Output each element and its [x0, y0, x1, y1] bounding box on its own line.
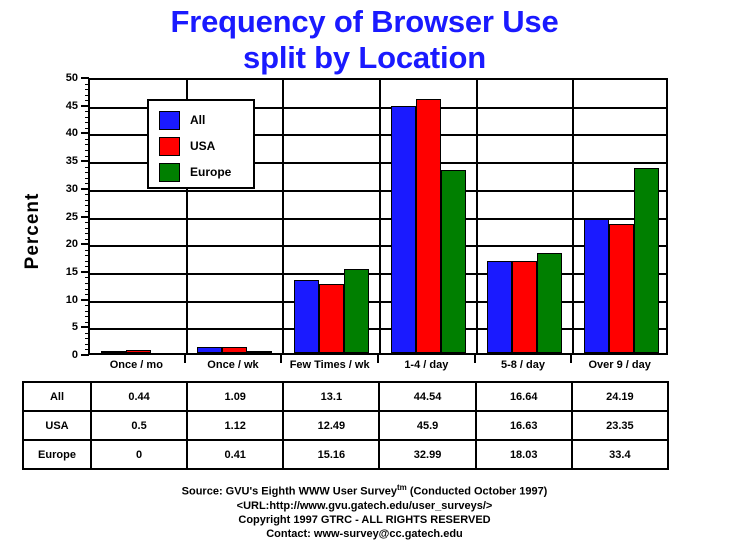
footer-url-line[interactable]: <URL:http://www.gvu.gatech.edu/user_surv… [0, 499, 729, 513]
bar-group [283, 80, 380, 353]
y-tick-label-40: 40 [38, 127, 78, 139]
bar-usa [126, 350, 151, 353]
bar-group [573, 80, 670, 353]
data-table-body: All0.441.0913.144.5416.6424.19USA0.51.12… [23, 382, 668, 469]
footer-source-line: Source: GVU's Eighth WWW User Surveytm (… [0, 481, 729, 499]
chart-plot-wrapper: Percent 05101520253035404550 Once / moOn… [0, 78, 729, 378]
footer-copyright-line: Copyright 1997 GTRC - ALL RIGHTS RESERVE… [0, 513, 729, 527]
data-table: All0.441.0913.144.5416.6424.19USA0.51.12… [22, 381, 669, 470]
title-line-2: split by Location [0, 40, 729, 76]
footer: Source: GVU's Eighth WWW User Surveytm (… [0, 481, 729, 541]
bar-all [197, 347, 222, 353]
bar-europe [247, 351, 272, 353]
x-axis-label-3: Few Times / wk [281, 359, 378, 371]
bar-all [487, 261, 512, 353]
table-cell: 0.41 [187, 440, 283, 469]
legend-swatch-icon [159, 137, 180, 156]
bar-usa [222, 347, 247, 353]
bar-europe [537, 253, 562, 353]
page-title: Frequency of Browser Use split by Locati… [0, 4, 729, 76]
table-cell: 44.54 [379, 382, 475, 411]
table-cell: 13.1 [283, 382, 379, 411]
x-axis-label-4: 1-4 / day [378, 359, 475, 371]
y-tick-label-45: 45 [38, 100, 78, 112]
table-cell: 0.44 [91, 382, 187, 411]
bar-all [294, 280, 319, 353]
y-tick-label-20: 20 [38, 238, 78, 250]
table-row: All0.441.0913.144.5416.6424.19 [23, 382, 668, 411]
bar-group [380, 80, 477, 353]
table-cell: 16.64 [476, 382, 572, 411]
table-cell: 12.49 [283, 411, 379, 440]
table-cell: 15.16 [283, 440, 379, 469]
legend-item-europe[interactable]: Europe [159, 159, 253, 185]
table-row-header: USA [23, 411, 91, 440]
table-row: USA0.51.1212.4945.916.6323.35 [23, 411, 668, 440]
bar-usa [609, 224, 634, 353]
legend-label: Europe [190, 165, 231, 179]
legend-label: All [190, 113, 205, 127]
x-axis-label-1: Once / mo [88, 359, 185, 371]
table-cell: 16.63 [476, 411, 572, 440]
table-row-header: Europe [23, 440, 91, 469]
bar-all [391, 106, 416, 353]
legend-label: USA [190, 139, 215, 153]
y-tick-label-50: 50 [38, 72, 78, 84]
footer-contact-line[interactable]: Contact: www-survey@cc.gatech.edu [0, 527, 729, 541]
table-cell: 24.19 [572, 382, 668, 411]
bar-europe [344, 269, 369, 353]
table-cell: 1.09 [187, 382, 283, 411]
y-tick-label-25: 25 [38, 211, 78, 223]
bar-europe [441, 170, 466, 353]
bar-all [101, 351, 126, 353]
table-cell: 0.5 [91, 411, 187, 440]
bar-group [477, 80, 574, 353]
y-tick-label-5: 5 [38, 321, 78, 333]
table-cell: 18.03 [476, 440, 572, 469]
footer-source-prefix: Source: GVU's Eighth WWW User Survey [182, 486, 397, 498]
footer-source-suffix: (Conducted October 1997) [407, 486, 548, 498]
legend-swatch-icon [159, 111, 180, 130]
table-cell: 33.4 [572, 440, 668, 469]
bar-usa [416, 99, 441, 353]
y-tick-label-35: 35 [38, 155, 78, 167]
table-cell: 23.35 [572, 411, 668, 440]
legend-swatch-icon [159, 163, 180, 182]
y-tick-label-30: 30 [38, 183, 78, 195]
x-axis-label-6: Over 9 / day [571, 359, 668, 371]
table-cell: 32.99 [379, 440, 475, 469]
bar-europe [634, 168, 659, 353]
x-axis-label-2: Once / wk [185, 359, 282, 371]
y-tick-label-15: 15 [38, 266, 78, 278]
footer-trademark: tm [397, 483, 407, 492]
table-row: Europe00.4115.1632.9918.0333.4 [23, 440, 668, 469]
table-cell: 45.9 [379, 411, 475, 440]
legend-item-usa[interactable]: USA [159, 133, 253, 159]
y-tick-label-10: 10 [38, 294, 78, 306]
table-row-header: All [23, 382, 91, 411]
x-axis-tick-labels: Once / moOnce / wkFew Times / wk1-4 / da… [88, 357, 668, 379]
chart-legend: AllUSAEurope [147, 99, 255, 189]
y-axis-tick-labels: 05101520253035404550 [38, 78, 78, 355]
x-axis-label-5: 5-8 / day [475, 359, 572, 371]
bar-usa [512, 261, 537, 353]
bar-usa [319, 284, 344, 353]
bar-all [584, 219, 609, 353]
legend-item-all[interactable]: All [159, 107, 253, 133]
table-cell: 0 [91, 440, 187, 469]
table-cell: 1.12 [187, 411, 283, 440]
y-tick-label-0: 0 [38, 349, 78, 361]
title-line-1: Frequency of Browser Use [0, 4, 729, 40]
